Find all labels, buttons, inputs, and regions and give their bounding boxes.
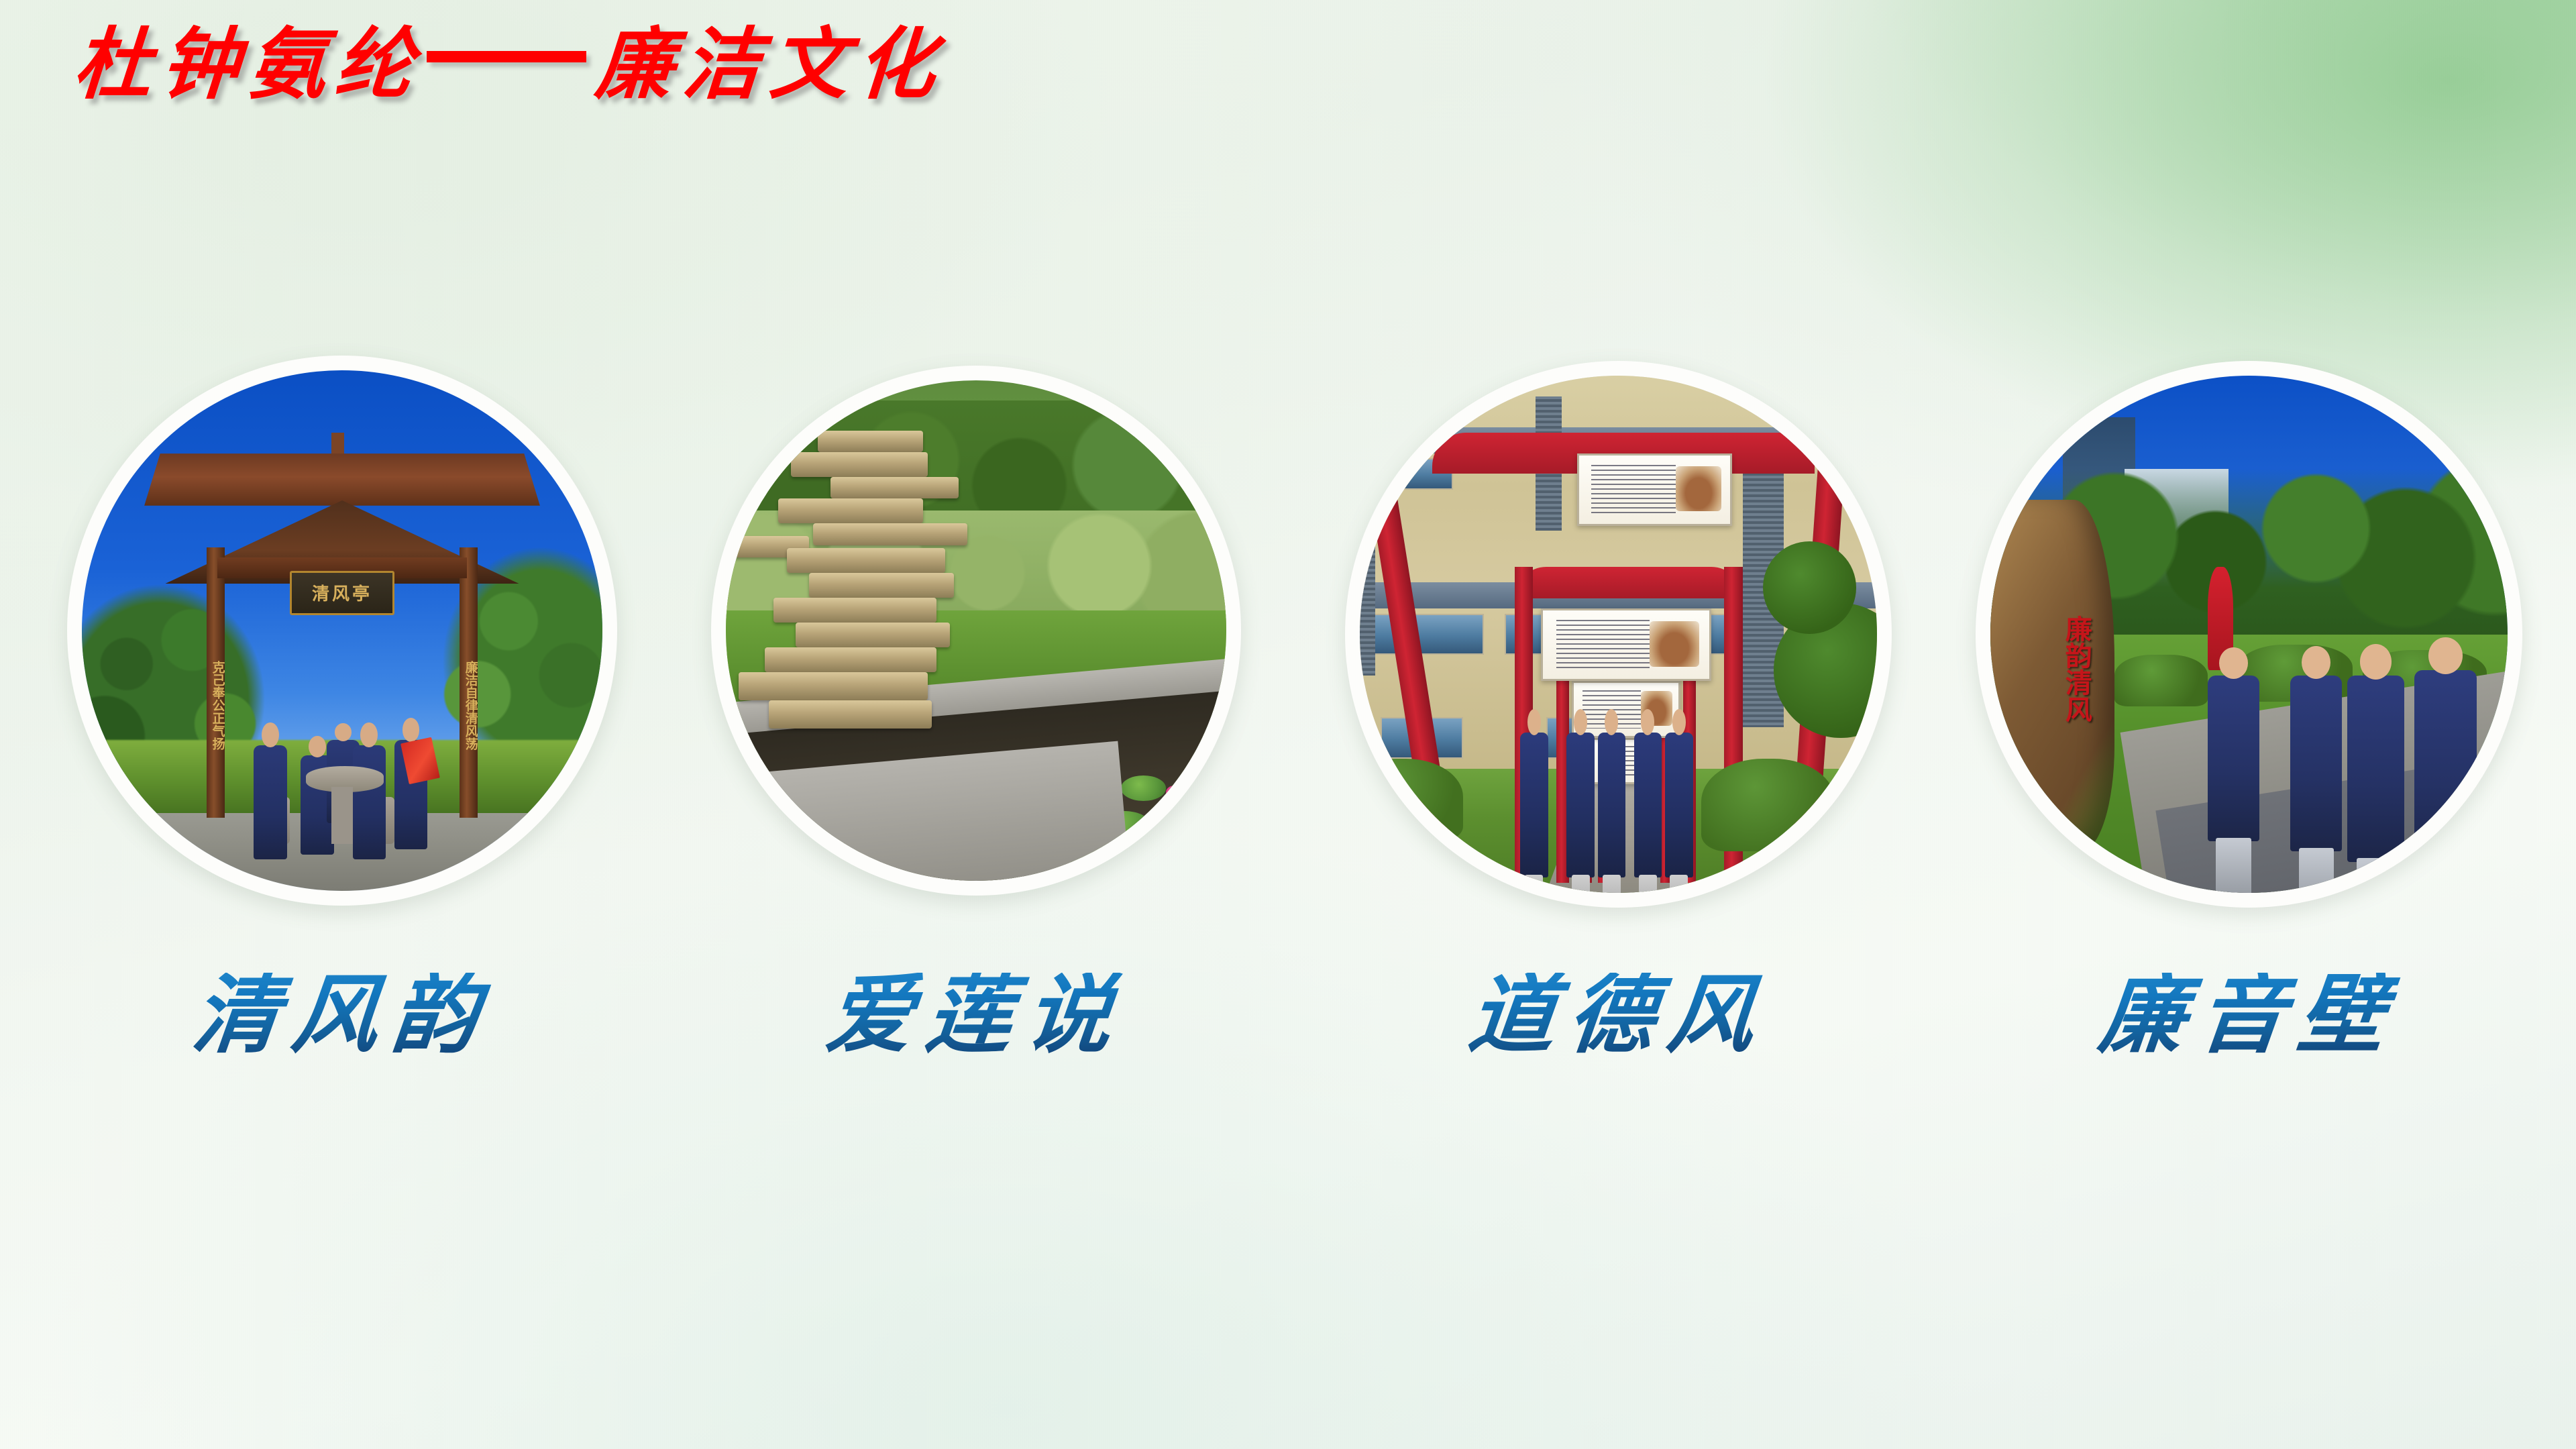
title-part-1: 杜钟氨纶 (71, 26, 425, 104)
person-figure (1665, 733, 1693, 877)
caption-2: 爱莲说 (706, 973, 1245, 1059)
photo-clip-2 (726, 380, 1226, 881)
couplet-left-text: 克己奉公正气扬 (207, 599, 224, 807)
caption-3: 道德风 (1340, 973, 1896, 1059)
scene-pavilion: 清风亭 克己奉公正气扬 廉洁自律清风荡 (82, 370, 602, 891)
rockery-stack (756, 431, 976, 741)
page-title: 杜钟氨纶 廉洁文化 (74, 15, 945, 115)
tree (1763, 541, 1856, 635)
person-figure (2290, 676, 2342, 851)
title-dash-rule (427, 51, 586, 62)
couplet-right-text: 廉洁自律清风荡 (460, 599, 477, 807)
slide-canvas: 杜钟氨纶 廉洁文化 (0, 0, 2576, 1449)
lily-pad (1136, 841, 1191, 871)
building-louver (1360, 521, 1375, 676)
caption-4: 廉音壁 (1971, 973, 2526, 1059)
photo-circle-1[interactable]: 清风亭 克己奉公正气扬 廉洁自律清风荡 (67, 356, 617, 906)
photo-circle-3[interactable] (1345, 361, 1892, 908)
person-figure (254, 745, 287, 860)
photo-circle-2[interactable] (711, 366, 1241, 896)
photo-clip-4: 廉韵清风 (1990, 376, 2508, 893)
lily-pad (1121, 775, 1166, 800)
pavilion-plaque-text: 清风亭 (312, 580, 372, 605)
scene-red-arch-corridor (1360, 376, 1877, 893)
photo-circle-4[interactable]: 廉韵清风 (1976, 361, 2522, 908)
person-figure (1598, 733, 1626, 877)
title-part-2: 廉洁文化 (593, 26, 947, 104)
person-figure (353, 745, 386, 860)
shrub (1360, 759, 1463, 841)
person-figure (2347, 676, 2404, 862)
person-figure (2208, 676, 2259, 841)
photo-clip-3 (1360, 376, 1877, 893)
person-figure (1520, 733, 1548, 877)
person-figure (1634, 733, 1662, 877)
panel-text-lines (1591, 465, 1676, 514)
shrub (1701, 759, 1835, 852)
person-figure (2414, 670, 2477, 867)
scene-monument-stone: 廉韵清风 (1990, 376, 2508, 893)
panel-illustration (1676, 466, 1721, 511)
person-figure (1566, 733, 1595, 877)
scene-rockery-pond (726, 380, 1226, 881)
photo-clip-1: 清风亭 克己奉公正气扬 廉洁自律清风荡 (82, 370, 602, 891)
pavilion-roof (144, 453, 540, 506)
caption-1: 清风韵 (62, 973, 621, 1059)
boulder-carving-text: 廉韵清风 (2018, 556, 2092, 782)
display-panel-1 (1577, 453, 1732, 526)
pavilion-plaque: 清风亭 (290, 571, 394, 615)
hedge (2114, 655, 2208, 706)
stone-table-leg (331, 787, 352, 844)
engraved-boulder: 廉韵清风 (1990, 500, 2114, 851)
photo-gallery: 清风亭 克己奉公正气扬 廉洁自律清风荡 (0, 0, 2576, 1449)
